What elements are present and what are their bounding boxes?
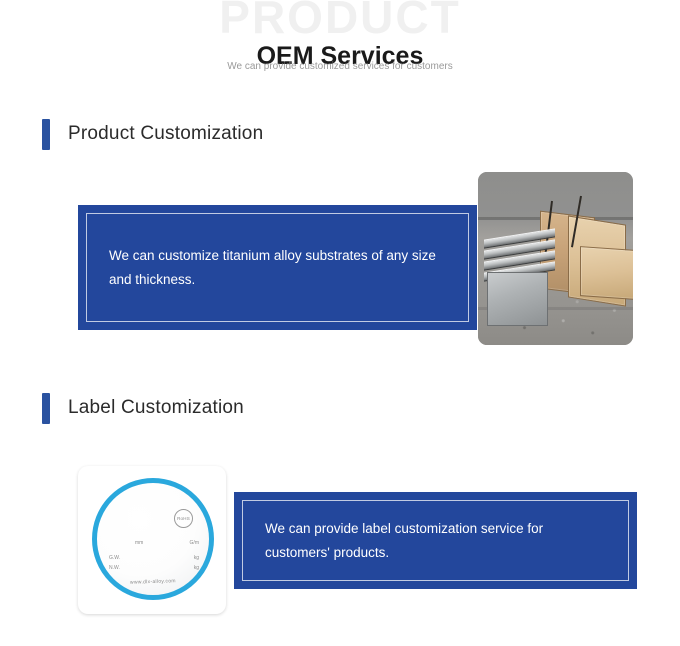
section-accent-bar: [42, 393, 50, 424]
section-heading-label-customization: Label Customization: [42, 391, 244, 425]
label-website: www.dlx-alloy.com: [97, 579, 209, 585]
page-header: PRODUCT OEM Services We can provide cust…: [0, 0, 680, 100]
section-heading-product-customization: Product Customization: [42, 117, 263, 151]
round-product-label: RoHS mm G.W. N.W. G/m kg kg www.dlx-allo…: [78, 466, 226, 614]
panel-inner-border: We can customize titanium alloy substrat…: [86, 213, 469, 322]
label-unit-mm: mm: [135, 540, 143, 546]
label-unit-gm: G/m: [190, 540, 199, 546]
label-unit-kg-gw: kg: [194, 555, 199, 561]
panel-inner-border: We can provide label customization servi…: [242, 500, 629, 581]
watermark-text: PRODUCT: [0, 0, 680, 40]
label-row-nw: N.W.: [109, 565, 120, 571]
label-row-gw: G.W.: [109, 555, 120, 561]
metal-substrate-body: [487, 272, 548, 326]
product-customization-panel: We can customize titanium alloy substrat…: [78, 205, 477, 330]
section-title-product-customization: Product Customization: [68, 123, 263, 145]
section-title-label-customization: Label Customization: [68, 397, 244, 419]
label-disc: RoHS mm G.W. N.W. G/m kg kg www.dlx-allo…: [92, 478, 214, 600]
rohs-badge: RoHS: [174, 509, 193, 528]
label-customization-panel: We can provide label customization servi…: [234, 492, 637, 589]
section-accent-bar: [42, 119, 50, 150]
page-subtitle: We can provide customized services for c…: [0, 60, 680, 74]
label-unit-kg-nw: kg: [194, 565, 199, 571]
product-customization-panel-text: We can customize titanium alloy substrat…: [87, 244, 468, 292]
packed-titanium-substrates-photo: [478, 172, 633, 345]
label-customization-panel-text: We can provide label customization servi…: [243, 517, 628, 565]
label-website-text: www.dlx-alloy.com: [130, 578, 176, 586]
wooden-crate: [580, 246, 633, 300]
